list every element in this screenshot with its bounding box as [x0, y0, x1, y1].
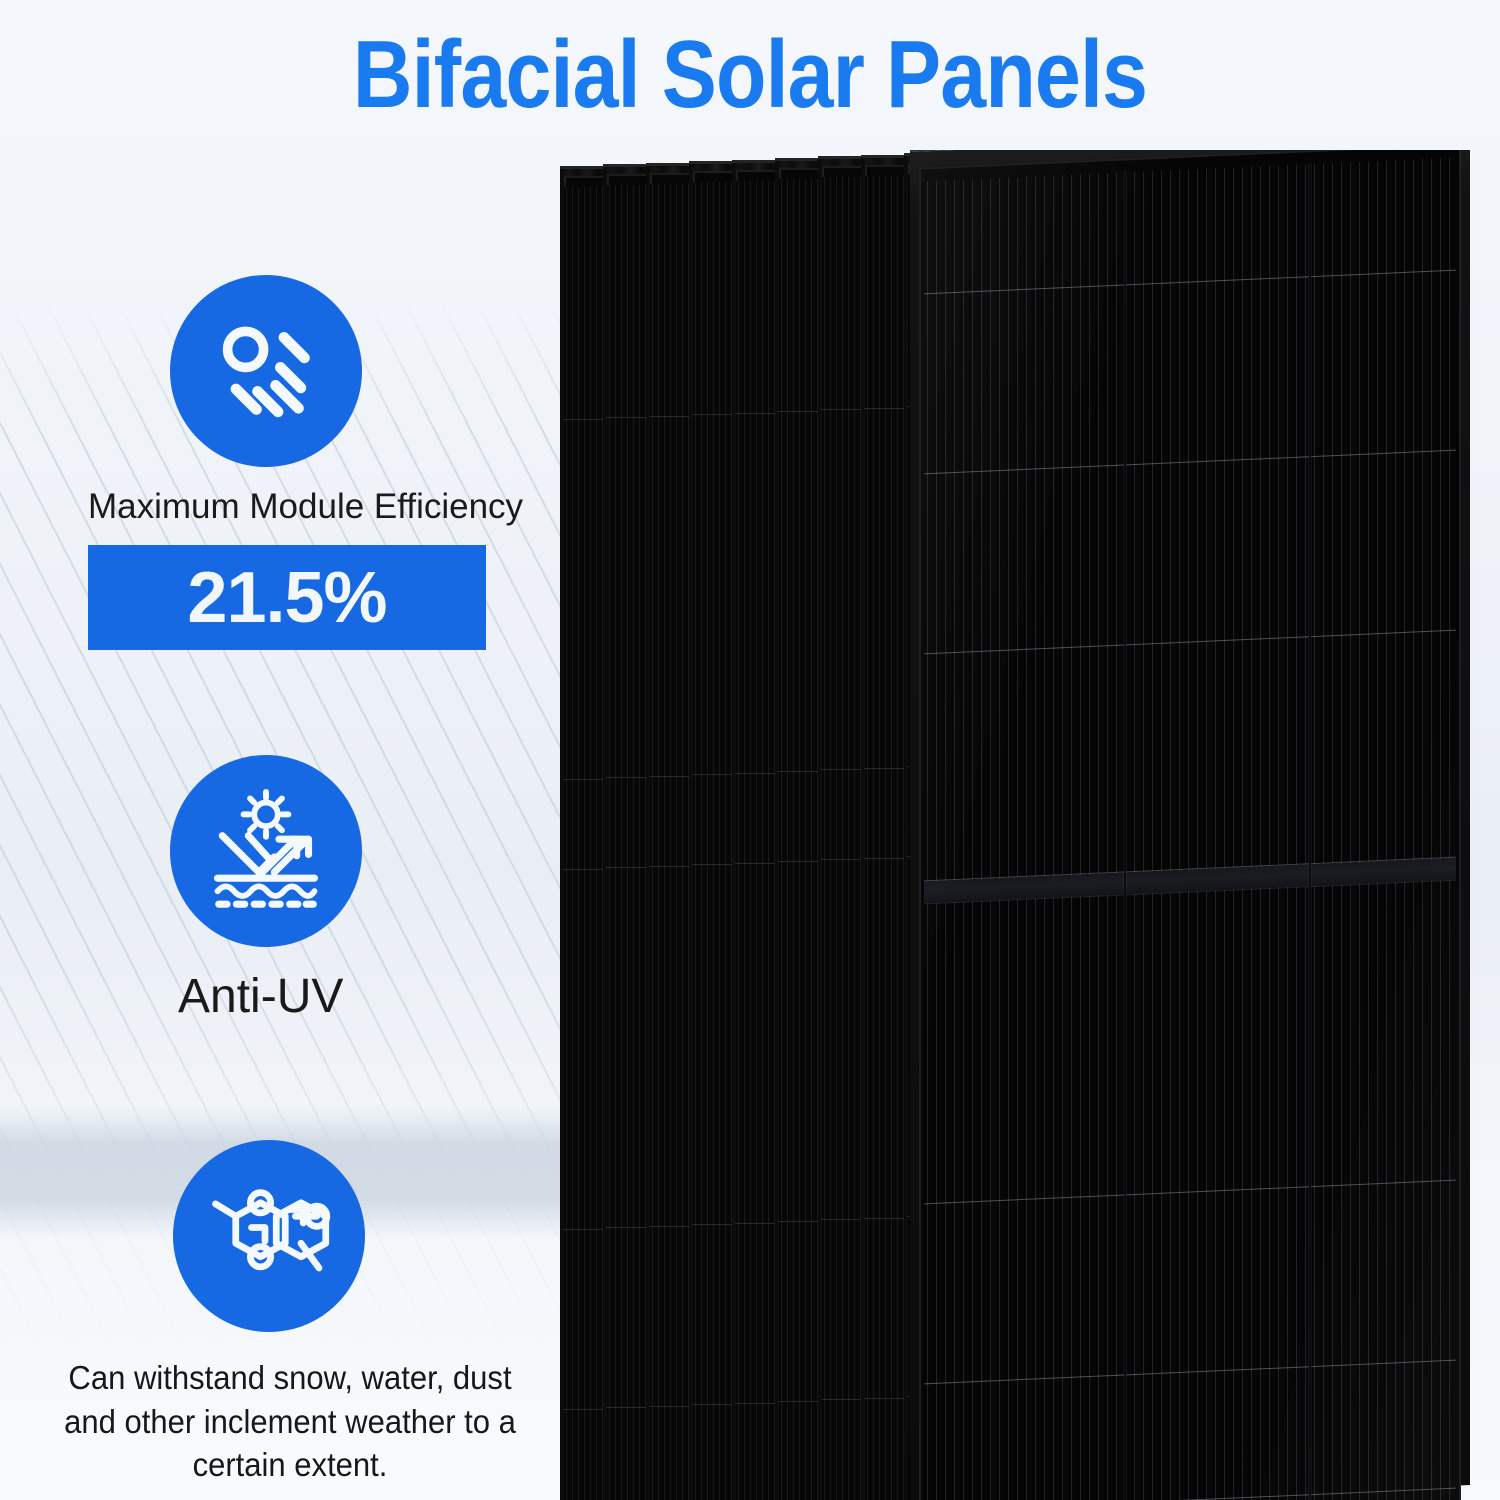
panel-busbar — [924, 450, 1456, 475]
panel-busbar — [924, 270, 1456, 295]
page-title: Bifacial Solar Panels — [105, 22, 1395, 128]
feature-anti-uv-label: Anti-UV — [178, 969, 362, 1024]
uv-reflect-icon — [170, 755, 362, 947]
panel-center-gap — [924, 858, 1456, 904]
efficiency-badge: 21.5% — [88, 545, 486, 650]
feature-efficiency: Maximum Module Efficiency 21.5% — [88, 275, 523, 650]
panel-busbar — [924, 1488, 1456, 1500]
efficiency-value: 21.5% — [187, 562, 386, 634]
sun-rays-icon — [170, 275, 362, 467]
panel-busbar — [924, 630, 1456, 655]
feature-weather-resistance: Can withstand snow, water, dust and othe… — [20, 1140, 550, 1487]
solar-panel-stack — [560, 150, 1470, 1500]
panel-cell-column-divider — [1124, 172, 1126, 1500]
feature-weather-label: Can withstand snow, water, dust and othe… — [46, 1356, 535, 1487]
feature-efficiency-label: Maximum Module Efficiency — [88, 487, 523, 527]
panel-cell-column-divider — [1309, 164, 1311, 1500]
panel-busbar — [924, 1180, 1456, 1205]
feature-anti-uv: Anti-UV — [88, 755, 362, 1024]
front-solar-panel — [910, 150, 1470, 1500]
molecule-icon — [173, 1140, 365, 1332]
panel-busbar — [924, 1360, 1456, 1385]
